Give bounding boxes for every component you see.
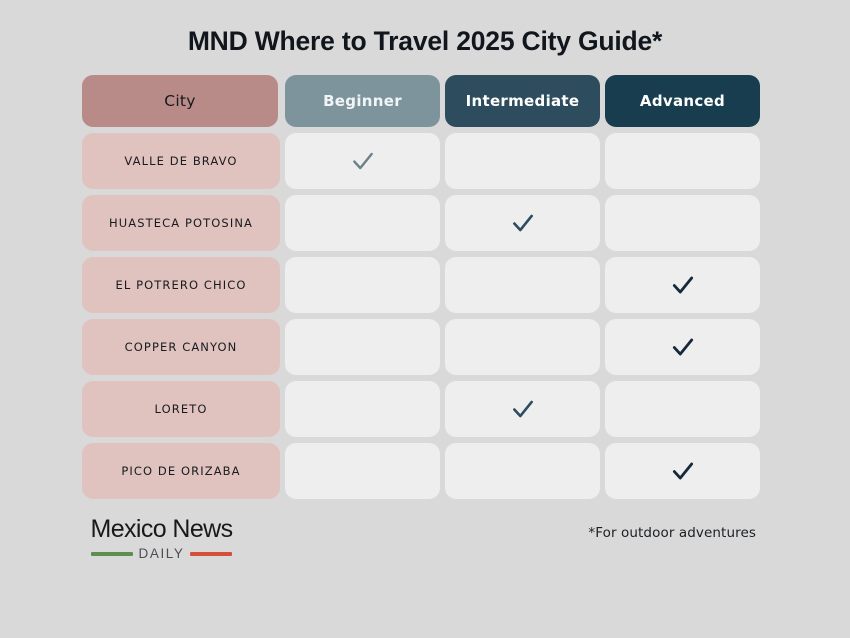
title-container: MND Where to Travel 2025 City Guide* xyxy=(0,0,850,56)
logo-daily-text: DAILY xyxy=(138,547,184,561)
footnote-text: *For outdoor adventures xyxy=(588,525,756,541)
cell-advanced[interactable] xyxy=(605,195,760,251)
cell-advanced[interactable] xyxy=(605,257,760,313)
city-label: PICO DE ORIZABA xyxy=(82,443,280,499)
table-row: COPPER CANYON xyxy=(80,319,770,375)
column-header-advanced: Advanced xyxy=(605,75,760,127)
cell-intermediate[interactable] xyxy=(445,381,600,437)
cell-beginner[interactable] xyxy=(285,257,440,313)
cell-beginner[interactable] xyxy=(285,319,440,375)
cell-intermediate[interactable] xyxy=(445,443,600,499)
table-row: PICO DE ORIZABA xyxy=(80,443,770,499)
table-row: HUASTECA POTOSINA xyxy=(80,195,770,251)
page-title: MND Where to Travel 2025 City Guide* xyxy=(0,27,850,56)
cell-advanced[interactable] xyxy=(605,381,760,437)
table-row: VALLE DE BRAVO xyxy=(80,133,770,189)
footer: Mexico News DAILY *For outdoor adventure… xyxy=(80,515,770,561)
checkmark-icon xyxy=(670,334,696,360)
city-label: COPPER CANYON xyxy=(82,319,280,375)
table-header-row: City Beginner Intermediate Advanced xyxy=(80,75,770,127)
cell-intermediate[interactable] xyxy=(445,195,600,251)
city-label: VALLE DE BRAVO xyxy=(82,133,280,189)
cell-beginner[interactable] xyxy=(285,195,440,251)
infographic-root: MND Where to Travel 2025 City Guide* Cit… xyxy=(0,0,850,638)
logo-wordmark: Mexico News xyxy=(90,517,232,542)
checkmark-icon xyxy=(510,210,536,236)
checkmark-icon xyxy=(670,272,696,298)
cell-intermediate[interactable] xyxy=(445,319,600,375)
cell-intermediate[interactable] xyxy=(445,133,600,189)
checkmark-icon xyxy=(510,396,536,422)
checkmark-icon xyxy=(350,148,376,174)
city-label: EL POTRERO CHICO xyxy=(82,257,280,313)
city-label: LORETO xyxy=(82,381,280,437)
cell-beginner[interactable] xyxy=(285,133,440,189)
mexico-news-daily-logo: Mexico News DAILY xyxy=(84,517,239,561)
cell-advanced[interactable] xyxy=(605,133,760,189)
cell-beginner[interactable] xyxy=(285,443,440,499)
logo-red-bar-icon xyxy=(190,552,232,556)
cell-advanced[interactable] xyxy=(605,319,760,375)
city-guide-table: City Beginner Intermediate Advanced VALL… xyxy=(80,75,770,499)
city-label: HUASTECA POTOSINA xyxy=(82,195,280,251)
cell-beginner[interactable] xyxy=(285,381,440,437)
column-header-intermediate: Intermediate xyxy=(445,75,600,127)
checkmark-icon xyxy=(670,458,696,484)
cell-intermediate[interactable] xyxy=(445,257,600,313)
column-header-city: City xyxy=(82,75,278,127)
table-row: EL POTRERO CHICO xyxy=(80,257,770,313)
logo-subline: DAILY xyxy=(91,547,231,561)
table-row: LORETO xyxy=(80,381,770,437)
logo-green-bar-icon xyxy=(91,552,133,556)
column-header-beginner: Beginner xyxy=(285,75,440,127)
cell-advanced[interactable] xyxy=(605,443,760,499)
